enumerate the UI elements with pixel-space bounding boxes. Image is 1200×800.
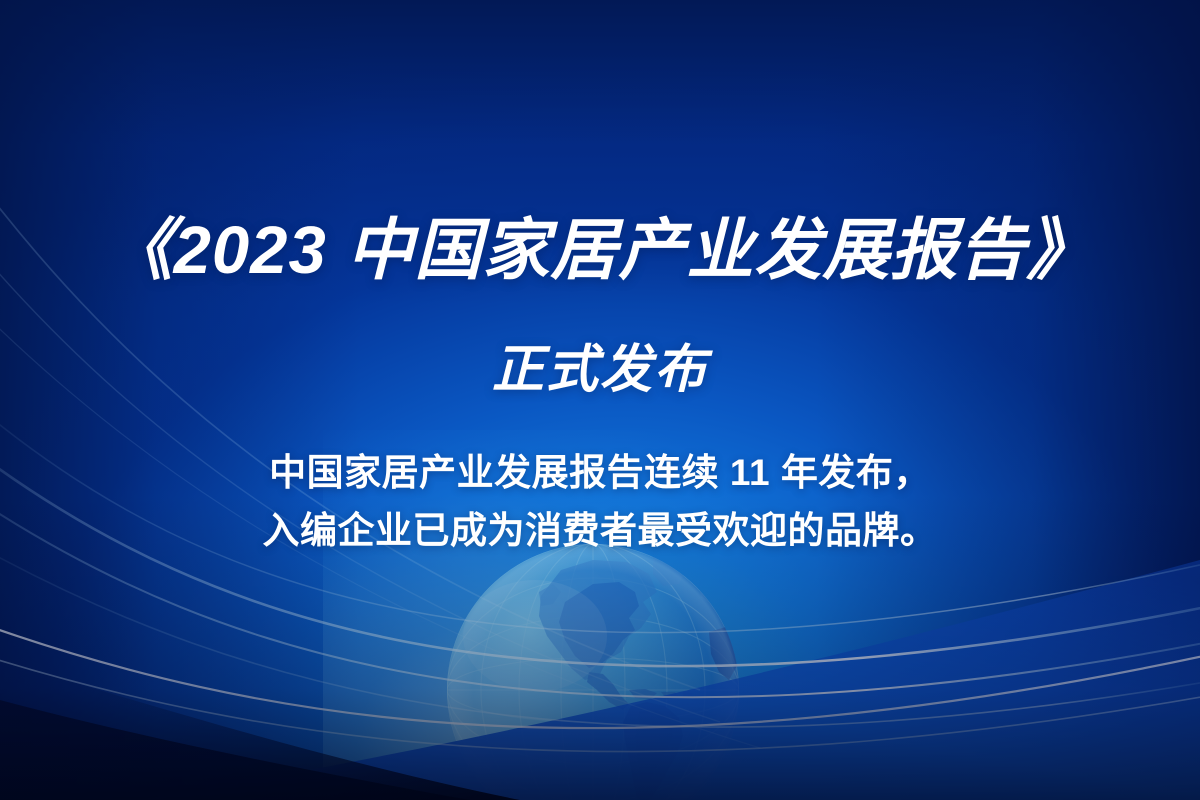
subtitle: 正式发布 xyxy=(0,342,1200,398)
banner-content: 《2023 中国家居产业发展报告》 正式发布 中国家居产业发展报告连续 11 年… xyxy=(0,0,1200,800)
banner-stage: 《2023 中国家居产业发展报告》 正式发布 中国家居产业发展报告连续 11 年… xyxy=(0,0,1200,800)
body-line-1: 中国家居产业发展报告连续 11 年发布， xyxy=(0,444,1200,502)
body-line-2: 入编企业已成为消费者最受欢迎的品牌。 xyxy=(0,502,1200,560)
body-text: 中国家居产业发展报告连续 11 年发布， 入编企业已成为消费者最受欢迎的品牌。 xyxy=(0,444,1200,559)
page-title: 《2023 中国家居产业发展报告》 xyxy=(0,216,1200,286)
